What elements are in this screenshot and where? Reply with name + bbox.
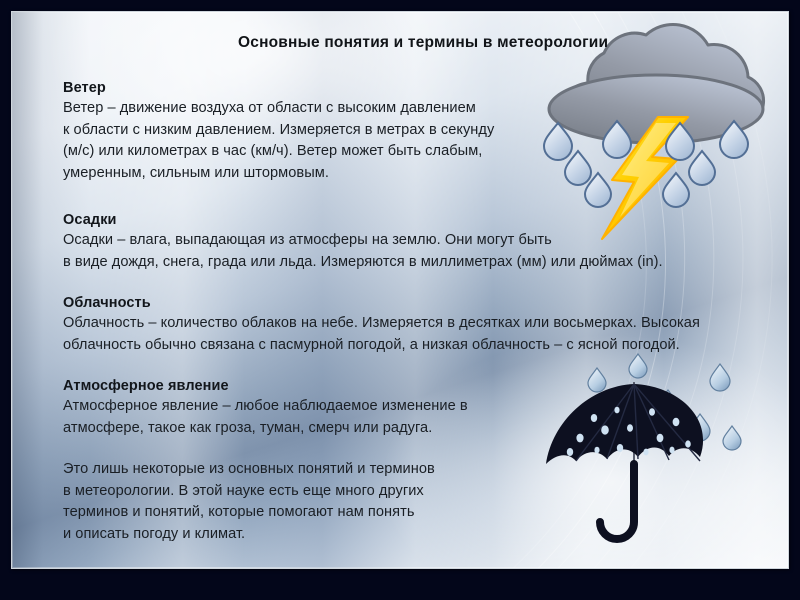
section-heading-atmospheric-phenomenon: Атмосферное явление	[63, 378, 768, 394]
closing-line: в метеорологии. В этой науке есть еще мн…	[63, 481, 768, 503]
section-wind: Ветер Ветер – движение воздуха от област…	[63, 80, 768, 184]
section-heading-wind: Ветер	[63, 80, 768, 96]
section-line: к области с низким давлением. Измеряется…	[63, 120, 768, 142]
slide-frame: Основные понятия и термины в метеорологи…	[0, 0, 800, 600]
section-line: Атмосферное явление – любое наблюдаемое …	[63, 396, 768, 418]
closing-line: и описать погоду и климат.	[63, 524, 768, 546]
closing-paragraph: Это лишь некоторые из основных понятий и…	[63, 459, 768, 545]
section-precipitation: Осадки Осадки – влага, выпадающая из атм…	[63, 212, 768, 273]
section-line: умеренным, сильным или штормовым.	[63, 163, 768, 185]
section-line: облачность обычно связана с пасмурной по…	[63, 335, 768, 357]
section-line: Осадки – влага, выпадающая из атмосферы …	[63, 230, 768, 252]
section-line: в виде дождя, снега, града или льда. Изм…	[63, 252, 768, 274]
page-title: Основные понятия и термины в метеорологи…	[238, 34, 608, 52]
section-line: Облачность – количество облаков на небе.…	[63, 313, 768, 335]
text-content-area: Основные понятия и термины в метеорологи…	[63, 12, 775, 568]
section-heading-cloudiness: Облачность	[63, 295, 768, 311]
section-atmospheric-phenomenon: Атмосферное явление Атмосферное явление …	[63, 378, 768, 439]
section-line: атмосфере, такое как гроза, туман, смерч…	[63, 418, 768, 440]
closing-line: терминов и понятий, которые помогают нам…	[63, 502, 768, 524]
section-line: Ветер – движение воздуха от области с вы…	[63, 98, 768, 120]
section-heading-precipitation: Осадки	[63, 212, 768, 228]
section-cloudiness: Облачность Облачность – количество облак…	[63, 295, 768, 356]
closing-line: Это лишь некоторые из основных понятий и…	[63, 459, 768, 481]
section-line: (м/с) или километрах в час (км/ч). Ветер…	[63, 141, 768, 163]
slide-content-panel: Основные понятия и термины в метеорологи…	[11, 11, 789, 569]
